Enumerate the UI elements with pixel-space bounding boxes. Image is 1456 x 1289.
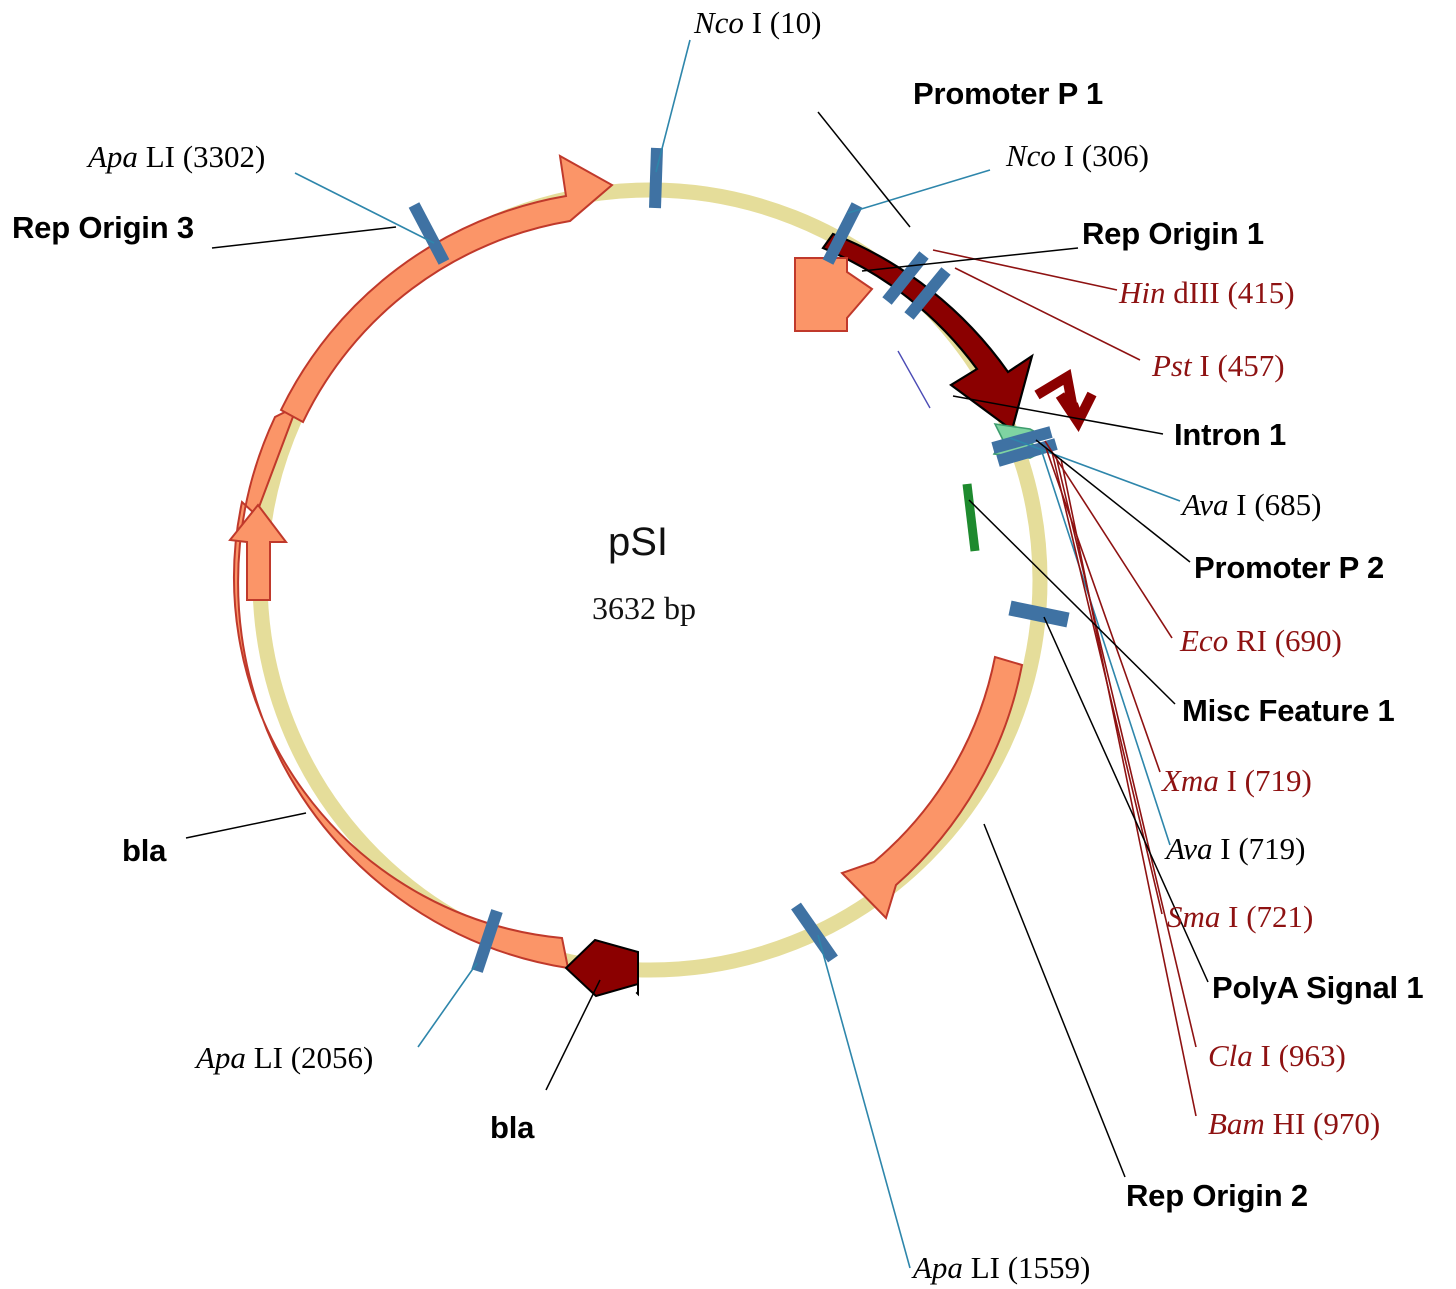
label-hin-diii-415-rest: dIII (415) (1166, 275, 1295, 310)
leader-intron-1 (953, 396, 1163, 434)
label-nco-i-306-rest: I (306) (1056, 138, 1149, 173)
label-ava-i-719-enzyme: Ava (1166, 831, 1213, 866)
label-apa-li-1559: Apa LI (1559) (913, 1252, 1090, 1283)
label-xma-i-719: Xma I (719) (1162, 765, 1312, 796)
leader-promoter-p2 (1036, 440, 1190, 562)
label-eco-ri-690-enzyme: Eco (1180, 623, 1228, 658)
leader-rep-origin-2 (984, 824, 1125, 1177)
leader-promoter-p1 (818, 112, 910, 227)
leader-bla-bottom (546, 980, 600, 1090)
label-ava-i-685: Ava I (685) (1182, 489, 1321, 520)
label-misc-feature-1: Misc Feature 1 (1182, 695, 1395, 726)
label-bam-hi-970-enzyme: Bam (1208, 1106, 1265, 1141)
leader-ava-i-719 (1041, 449, 1170, 845)
leader-cla-i-963 (1056, 456, 1196, 1047)
label-apa-li-2056-rest: LI (2056) (246, 1040, 373, 1075)
label-apa-li-3302-rest: LI (3302) (138, 139, 265, 174)
label-ava-i-685-rest: I (685) (1229, 487, 1322, 522)
leader-apa-li-2056 (418, 963, 477, 1047)
feature-arc-rep-origin-2 (842, 657, 1022, 918)
label-ava-i-719: Ava I (719) (1166, 833, 1305, 864)
label-sma-i-721: Sma I (721) (1167, 901, 1313, 932)
feature-arrow-bla-darkred (566, 940, 638, 996)
label-bam-hi-970-rest: HI (970) (1265, 1106, 1380, 1141)
label-nco-i-306: Nco I (306) (1006, 140, 1149, 171)
label-nco-i-306-enzyme: Nco (1006, 138, 1056, 173)
label-cla-i-963-enzyme: Cla (1208, 1038, 1253, 1073)
label-sma-i-721-enzyme: Sma (1167, 899, 1220, 934)
label-eco-ri-690-rest: RI (690) (1228, 623, 1342, 658)
label-apa-li-1559-rest: LI (1559) (963, 1250, 1090, 1285)
label-bla-left: bla (122, 835, 166, 866)
label-hin-diii-415-enzyme: Hin (1119, 275, 1166, 310)
label-cla-i-963-rest: I (963) (1253, 1038, 1346, 1073)
label-apa-li-1559-enzyme: Apa (913, 1250, 963, 1285)
leader-accessory-1 (898, 351, 930, 408)
label-nco-i-10-enzyme: Nco (694, 5, 744, 40)
label-promoter-p2: Promoter P 2 (1194, 552, 1384, 583)
feature-arc-rep-origin-3 (281, 156, 612, 422)
leader-rep-origin-1 (862, 248, 1078, 271)
label-ava-i-719-rest: I (719) (1213, 831, 1306, 866)
feature-bar-polya-signal-1 (1010, 608, 1068, 620)
label-bam-hi-970: Bam HI (970) (1208, 1108, 1380, 1139)
leader-nco-i-10 (656, 40, 690, 172)
label-rep-origin-3: Rep Origin 3 (12, 212, 194, 243)
label-promoter-p1: Promoter P 1 (913, 78, 1103, 109)
plasmid-size: 3632 bp (592, 592, 696, 624)
label-rep-origin-1: Rep Origin 1 (1082, 218, 1264, 249)
label-nco-i-10-rest: I (10) (744, 5, 821, 40)
feature-arrow-promoter-p2 (1037, 377, 1092, 422)
leader-apa-li-1559 (818, 935, 910, 1268)
label-intron-1: Intron 1 (1174, 419, 1286, 450)
feature-bar-misc-feature-1 (967, 484, 975, 551)
leader-rep-origin-3 (212, 227, 396, 248)
feature-arrow-rep-origin-1 (795, 258, 872, 331)
label-hin-diii-415: Hin dIII (415) (1119, 277, 1295, 308)
label-rep-origin-2: Rep Origin 2 (1126, 1180, 1308, 1211)
plasmid-name: pSI (608, 522, 668, 562)
label-xma-i-719-rest: I (719) (1219, 763, 1312, 798)
label-xma-i-719-enzyme: Xma (1162, 763, 1219, 798)
site-tick-nco-i-10 (655, 148, 657, 208)
plasmid-map-canvas: Nco I (10) Promoter P 1 Nco I (306) Rep … (0, 0, 1456, 1289)
label-apa-li-2056-enzyme: Apa (196, 1040, 246, 1075)
label-pst-i-457-rest: I (457) (1192, 348, 1285, 383)
label-pst-i-457-enzyme: Pst (1152, 348, 1192, 383)
label-apa-li-3302-enzyme: Apa (88, 139, 138, 174)
leader-bla-left (186, 813, 306, 838)
feature-arc-bla-orange (234, 406, 568, 968)
label-nco-i-10: Nco I (10) (694, 7, 821, 38)
label-ava-i-685-enzyme: Ava (1182, 487, 1229, 522)
label-sma-i-721-rest: I (721) (1220, 899, 1313, 934)
label-eco-ri-690: Eco RI (690) (1180, 625, 1342, 656)
label-polya-signal-1: PolyA Signal 1 (1212, 972, 1423, 1003)
label-apa-li-3302: Apa LI (3302) (88, 141, 265, 172)
label-cla-i-963: Cla I (963) (1208, 1040, 1346, 1071)
label-pst-i-457: Pst I (457) (1152, 350, 1285, 381)
label-apa-li-2056: Apa LI (2056) (196, 1042, 373, 1073)
label-bla-bottom: bla (490, 1112, 534, 1143)
